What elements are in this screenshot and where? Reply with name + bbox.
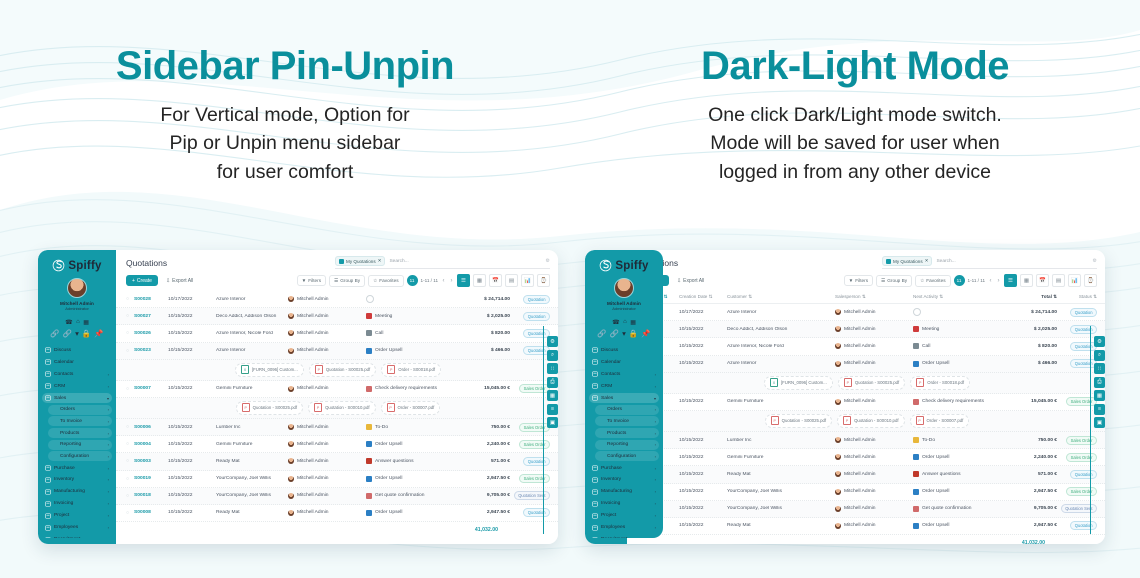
column-header-status[interactable]: Status ⇅ <box>1057 294 1097 300</box>
link-icon[interactable]: 🔗 <box>50 329 59 338</box>
pager-prev-button[interactable]: ‹ <box>988 278 993 284</box>
table-row[interactable]: ○S0000710/15/2022Gemini FurnitureMitchel… <box>116 381 558 398</box>
group-by-button[interactable]: ☰ Group By <box>329 275 365 287</box>
column-header-customer[interactable]: Customer ⇅ <box>727 294 835 300</box>
phone-icon[interactable]: ☎ <box>612 319 619 326</box>
attachment-row: PQuotation - S00025.pdfPQuotation - S000… <box>116 398 558 419</box>
grid-icon[interactable]: ▦ <box>630 319 636 326</box>
table-row[interactable]: ○S0002810/17/2022Azure InteriorMitchell … <box>116 291 558 308</box>
sidebar-item-reporting[interactable]: Reporting› <box>48 440 112 450</box>
xls-file-icon: X <box>241 365 249 374</box>
record-count-badge: 11 <box>954 275 965 286</box>
invoicing-icon <box>592 501 598 507</box>
attachment-pill[interactable]: X[FURN_0096] Custom... <box>235 363 304 377</box>
filter-icon[interactable]: ▾ <box>622 329 626 338</box>
table-row[interactable]: ○S0001810/15/2022YourCompany, Joel Willi… <box>627 501 1105 518</box>
cell-total: $ 2,025.00 <box>1005 327 1057 332</box>
column-header-next-activity[interactable]: Next Activity ⇅ <box>913 294 1005 300</box>
cell-salesperson: Mitchell Admin <box>288 348 366 354</box>
row-checkbox[interactable]: ○ <box>126 493 134 499</box>
sidebar-item-sales[interactable]: Sales▾ <box>42 393 112 403</box>
topbar-right: Quotations My Quotations ✕ Search... ⚙ + <box>627 250 1105 291</box>
activity-view-icon[interactable]: ⌚ <box>537 274 550 287</box>
cell-total: $ 466.00 <box>458 348 510 353</box>
main-area-left: Quotations My Quotations ✕ Search... ⚙ + <box>116 250 558 544</box>
activity-view-icon[interactable]: ⌚ <box>1084 274 1097 287</box>
cell-salesperson: Mitchell Admin <box>288 313 366 319</box>
sidebar-item-products[interactable]: Products› <box>48 428 112 438</box>
avatar <box>835 489 841 495</box>
sidebar-item-sales[interactable]: Sales▾ <box>589 393 659 403</box>
export-all-button[interactable]: ⇩ Export All <box>673 275 708 286</box>
list-rail-icon[interactable]: ≡ <box>547 404 558 415</box>
pager-next-button[interactable]: › <box>449 278 454 284</box>
grid-icon[interactable]: ▦ <box>83 319 89 326</box>
chevron-down-icon: ▾ <box>107 396 109 401</box>
cell-total: $ 466.00 <box>1005 361 1057 366</box>
pager-prev-button[interactable]: ‹ <box>441 278 446 284</box>
filters-button[interactable]: ▼ Filters <box>844 275 873 286</box>
sidebar-item-reporting[interactable]: Reporting› <box>595 440 659 450</box>
todo-icon <box>913 437 919 443</box>
dot-icon <box>51 418 57 424</box>
grid-rail-icon[interactable]: ∷ <box>1094 363 1105 374</box>
column-header-total[interactable]: Total ⇅ <box>1005 294 1057 300</box>
chevron-right-icon: › <box>655 372 656 377</box>
pdf-file-icon: P <box>916 416 924 425</box>
pivot-view-icon[interactable]: ▤ <box>1052 274 1065 287</box>
cell-status: Quotation <box>1057 521 1097 530</box>
search-rail-icon[interactable]: ⌕ <box>547 350 558 361</box>
module-rail-icon[interactable]: ▦ <box>1094 390 1105 401</box>
table-row[interactable]: ○S0002610/15/2022Azure Interior, Nicole … <box>627 338 1105 355</box>
attachment-pill[interactable]: PQuotation - S00010.pdf <box>837 414 904 428</box>
contacts-icon <box>45 371 51 377</box>
cell-customer: Azure Interior, Nicole Ford <box>216 331 288 336</box>
attachment-pill[interactable]: POrder - S00007.pdf <box>910 414 970 428</box>
cell-total: 2,240.00 € <box>458 442 510 447</box>
cell-status: Quotation <box>1057 308 1097 317</box>
cell-salesperson: Mitchell Admin <box>835 309 913 315</box>
sidebar-item-label: Inventory <box>601 477 652 482</box>
sidebar-item-label: CRM <box>54 384 105 389</box>
sidebar-item-label: Invoicing <box>601 501 652 506</box>
list-view-icon[interactable]: ☰ <box>457 274 470 287</box>
pin-icon[interactable]: 📌 <box>94 329 103 338</box>
quick-actions-row-1-right[interactable]: ☎ ⌂ ▦ <box>585 319 663 326</box>
cell-activity: Order Upsell <box>366 510 458 516</box>
chevron-right-icon: › <box>655 501 656 506</box>
sidebar-menu-right[interactable]: DiscussCalendarContacts›CRM›Sales▾Orders… <box>585 345 663 538</box>
favorites-button[interactable]: ☆ Favorites <box>368 275 403 287</box>
pivot-view-icon[interactable]: ▤ <box>505 274 518 287</box>
facet-remove-icon[interactable]: ✕ <box>378 258 382 264</box>
sidebar-item-invoicing[interactable]: Invoicing› <box>42 499 112 509</box>
table-row[interactable]: ○S0002310/15/2022Azure InteriorMitchell … <box>116 343 558 360</box>
dot-icon <box>598 407 604 413</box>
attachment-pill[interactable]: PQuotation - S00025.pdf <box>765 414 832 428</box>
sidebar-item-manufacturing[interactable]: Manufacturing› <box>589 487 659 497</box>
sidebar-item-employees[interactable]: Employees› <box>42 523 112 533</box>
status-badge: Sales Order <box>519 384 550 393</box>
cell-date: 10/15/2022 <box>168 442 216 447</box>
table-row[interactable]: ○S0000810/15/2022Ready MatMitchell Admin… <box>116 505 558 522</box>
upsell-icon <box>913 454 919 460</box>
grid-rail-icon[interactable]: ∷ <box>547 363 558 374</box>
sidebar-item-label: To Invoice <box>60 419 105 424</box>
row-checkbox[interactable]: ○ <box>126 348 134 354</box>
sidebar-item-contacts[interactable]: Contacts› <box>589 369 659 379</box>
table-row[interactable]: ○S0002610/15/2022Azure Interior, Nicole … <box>116 325 558 342</box>
hero-column-right: Dark-Light Mode One click Dark/Light mod… <box>570 0 1140 232</box>
cell-status: Sales Order <box>510 423 550 432</box>
sidebar-item-to-invoice[interactable]: To Invoice› <box>48 416 112 426</box>
cell-date: 10/15/2022 <box>168 493 216 498</box>
favorites-label: Favorites <box>926 278 945 283</box>
search-options-icon[interactable]: ⚙ <box>546 258 550 264</box>
sidebar-panel-right[interactable]: Spiffy Mitchell Admin Administrator ☎ ⌂ … <box>585 250 663 538</box>
avatar <box>288 510 294 516</box>
row-checkbox[interactable]: ○ <box>126 296 134 302</box>
sidebar-item-contacts[interactable]: Contacts› <box>42 369 112 379</box>
upsell-icon <box>366 476 372 482</box>
search-rail-icon[interactable]: ⌕ <box>1094 350 1105 361</box>
avatar <box>614 278 634 298</box>
home-icon[interactable]: ⌂ <box>76 319 80 326</box>
export-label: Export All <box>683 278 704 284</box>
chevron-right-icon: › <box>108 477 109 482</box>
brand-name: Spiffy <box>615 260 648 272</box>
sidebar-item-calendar[interactable]: Calendar <box>42 357 112 367</box>
facet-my-quotations[interactable]: My Quotations ✕ <box>335 256 385 266</box>
cell-date: 10/15/2022 <box>168 348 216 353</box>
link2-icon[interactable]: 🔗 <box>610 329 619 338</box>
link-icon[interactable]: 🔗 <box>597 329 606 338</box>
sidebar-item-configuration[interactable]: Configuration› <box>595 451 659 461</box>
home-icon[interactable]: ⌂ <box>623 319 627 326</box>
cell-number: S00027 <box>134 314 168 319</box>
chevron-right-icon: › <box>655 431 656 436</box>
user-block[interactable]: Mitchell Admin Administrator <box>38 278 116 315</box>
pdf-file-icon: P <box>844 378 852 387</box>
cell-status: Quotation <box>510 329 550 338</box>
graph-view-icon[interactable]: 📊 <box>1068 274 1081 287</box>
sidebar-item-products[interactable]: Products› <box>595 428 659 438</box>
lock-icon[interactable]: 🔒 <box>82 329 91 338</box>
sidebar-item-label: Orders <box>607 407 652 412</box>
facet-remove-icon[interactable]: ✕ <box>925 258 929 264</box>
cell-date: 10/15/2022 <box>679 344 727 349</box>
quick-actions-row-2-right[interactable]: 🔗 🔗 ▾ 🔒 📌 <box>585 329 663 338</box>
table-row[interactable]: ○S0002310/15/2022Azure InteriorMitchell … <box>627 356 1105 373</box>
upsell-icon <box>366 441 372 447</box>
status-badge: Quotation <box>523 295 550 304</box>
cell-status: Quotation Sent <box>510 491 550 500</box>
list-view-icon[interactable]: ☰ <box>1004 274 1017 287</box>
quick-actions-row-2[interactable]: 🔗 🔗 ▾ 🔒 📌 <box>38 329 116 338</box>
cell-status: Sales Order <box>1057 487 1097 496</box>
groupby-label: Group By <box>340 278 360 283</box>
module-rail-icon[interactable]: ▦ <box>547 390 558 401</box>
attachment-pill[interactable]: X[FURN_0096] Custom... <box>764 376 833 390</box>
status-badge: Quotation <box>523 346 550 355</box>
print-rail-icon[interactable]: ⎙ <box>547 377 558 388</box>
sidebar-item-crm[interactable]: CRM› <box>42 381 112 391</box>
rail-divider <box>1090 326 1091 534</box>
status-badge: Sales Order <box>1066 487 1097 496</box>
cell-total: $ 820.00 <box>458 331 510 336</box>
chevron-right-icon: › <box>655 537 656 538</box>
phone-icon[interactable]: ☎ <box>65 319 72 326</box>
sidebar-item-label: Contacts <box>601 372 652 377</box>
sidebar-item-calendar[interactable]: Calendar <box>589 357 659 367</box>
table-row[interactable]: ○S0001910/15/2022YourCompany, Joel Willi… <box>627 484 1105 501</box>
chat-icon <box>45 347 51 353</box>
cell-activity: Answer questions <box>913 471 1005 477</box>
user-name: Mitchell Admin <box>607 301 641 306</box>
status-badge: Quotation <box>1070 308 1097 317</box>
chevron-right-icon: › <box>655 384 656 389</box>
table-row[interactable]: ○S0000610/15/2022Lumber IncMitchell Admi… <box>627 432 1105 449</box>
sidebar-item-crm[interactable]: CRM› <box>589 381 659 391</box>
sidebar-item-orders[interactable]: Orders› <box>595 405 659 415</box>
search-bar[interactable]: My Quotations ✕ Search... ⚙ <box>335 256 550 269</box>
cell-activity: To-Do <box>913 437 1005 443</box>
brand-right[interactable]: Spiffy <box>585 250 663 278</box>
filters-button[interactable]: ▼ Filters <box>297 275 326 286</box>
row-checkbox[interactable]: ○ <box>126 330 134 336</box>
table-row[interactable]: ○S0000710/15/2022Gemini FurnitureMitchel… <box>627 394 1105 411</box>
sidebar-item-orders[interactable]: Orders› <box>48 405 112 415</box>
create-button[interactable]: + Create <box>126 275 158 286</box>
sidebar-item-label: Products <box>60 431 105 436</box>
cell-salesperson: Mitchell Admin <box>835 361 913 367</box>
avatar <box>288 330 294 336</box>
table-row[interactable]: ○S0000410/15/2022Gemini FurnitureMitchel… <box>627 449 1105 466</box>
calendar-view-icon[interactable]: 📅 <box>1036 274 1049 287</box>
cell-customer: Azure Interior <box>216 348 288 353</box>
cell-salesperson: Mitchell Admin <box>835 399 913 405</box>
sidebar-item-label: CRM <box>601 384 652 389</box>
sidebar-item-discuss[interactable]: Discuss <box>42 345 112 355</box>
filter-facet-icon <box>886 259 891 264</box>
hero-column-left: Sidebar Pin-Unpin For Vertical mode, Opt… <box>0 0 570 232</box>
right-rail-right[interactable]: ⚙⌕∷⎙▦≡▣ <box>1094 336 1105 428</box>
sidebar-item-label: Calendar <box>54 360 109 365</box>
column-header-salesperson[interactable]: Salesperson ⇅ <box>835 294 913 300</box>
chevron-right-icon: › <box>655 489 656 494</box>
sidebar-item-recruitment[interactable]: Recruitment› <box>589 535 659 538</box>
chevron-right-icon: › <box>108 419 109 424</box>
cell-date: 10/15/2022 <box>168 476 216 481</box>
sidebar-item-recruitment[interactable]: Recruitment› <box>42 535 112 538</box>
table-row[interactable]: ○S0001810/15/2022YourCompany, Joel Willi… <box>116 488 558 505</box>
attachment-pill[interactable]: PQuotation - S00025.pdf <box>838 376 905 390</box>
cell-status: Sales Order <box>510 384 550 393</box>
column-header-creation-date[interactable]: Creation Date ⇅ <box>679 294 727 300</box>
dot-icon <box>598 430 604 436</box>
settings-gear-icon[interactable]: ⚙ <box>547 336 558 347</box>
groupby-label: Group By <box>887 278 907 283</box>
kanban-view-icon[interactable]: ▦ <box>473 274 486 287</box>
cell-salesperson: Mitchell Admin <box>835 326 913 332</box>
sidebar-item-label: Manufacturing <box>54 489 105 494</box>
sidebar-item-purchase[interactable]: Purchase› <box>589 463 659 473</box>
cell-total: 2,947.50 € <box>1005 523 1057 528</box>
calendar-icon <box>45 359 51 365</box>
chevron-right-icon: › <box>108 501 109 506</box>
sidebar-item-manufacturing[interactable]: Manufacturing› <box>42 487 112 497</box>
sidebar-item-project[interactable]: Project› <box>589 511 659 521</box>
cell-date: 10/15/2022 <box>168 425 216 430</box>
row-checkbox[interactable]: ○ <box>126 424 134 430</box>
cell-status: Quotation <box>510 295 550 304</box>
chevron-right-icon: › <box>108 384 109 389</box>
attachment-row: PQuotation - S00025.pdfPQuotation - S000… <box>627 411 1105 432</box>
image-rail-icon[interactable]: ▣ <box>1094 417 1105 428</box>
table-row[interactable]: ○S0000410/15/2022Gemini FurnitureMitchel… <box>116 436 558 453</box>
sidebar-item-inventory[interactable]: Inventory› <box>42 475 112 485</box>
chevron-right-icon: › <box>108 372 109 377</box>
sidebar-item-configuration[interactable]: Configuration› <box>48 451 112 461</box>
cell-salesperson: Mitchell Admin <box>835 471 913 477</box>
sidebar-item-purchase[interactable]: Purchase› <box>42 463 112 473</box>
table-row[interactable]: ○S0002710/15/2022Deco Addict, Addison Ol… <box>116 308 558 325</box>
avatar <box>288 476 294 482</box>
download-icon: ⇩ <box>166 278 170 284</box>
quotations-table-left: ○S0002810/17/2022Azure InteriorMitchell … <box>116 291 558 544</box>
sidebar-item-project[interactable]: Project› <box>42 511 112 521</box>
table-row[interactable]: ○S0000310/15/2022Ready MatMitchell Admin… <box>116 453 558 470</box>
pager-next-button[interactable]: › <box>996 278 1001 284</box>
filter-icon[interactable]: ▾ <box>75 329 79 338</box>
lock-icon[interactable]: 🔒 <box>629 329 638 338</box>
table-row[interactable]: ○S0001910/15/2022YourCompany, Joel Willi… <box>116 471 558 488</box>
table-row[interactable]: ○S0002710/15/2022Deco Addict, Addison Ol… <box>627 321 1105 338</box>
topbar-left: Quotations My Quotations ✕ Search... ⚙ + <box>116 250 558 291</box>
attachment-pill[interactable]: POrder - S00018.pdf <box>910 376 970 390</box>
check-icon <box>366 386 372 392</box>
purchase-icon <box>45 465 51 471</box>
sidebar-menu-left[interactable]: DiscussCalendarContacts›CRM›Sales▾Orders… <box>38 345 116 538</box>
user-block-right[interactable]: Mitchell Admin Administrator <box>585 278 663 315</box>
employees-icon <box>592 525 598 531</box>
attachment-pill[interactable]: POrder - S00007.pdf <box>381 401 441 415</box>
cell-status: Sales Order <box>1057 436 1097 445</box>
avatar <box>288 313 294 319</box>
rail-divider <box>543 326 544 534</box>
search-input[interactable]: Search... <box>936 259 1088 264</box>
cell-number: S00019 <box>134 476 168 481</box>
right-rail-left[interactable]: ⚙⌕∷⎙▦≡▣ <box>547 336 558 428</box>
cell-date: 10/17/2022 <box>679 310 727 315</box>
sidebar-item-discuss[interactable]: Discuss <box>589 345 659 355</box>
upsell-icon <box>913 523 919 529</box>
print-rail-icon[interactable]: ⎙ <box>1094 377 1105 388</box>
table-row[interactable]: ○S0000610/15/2022Lumber IncMitchell Admi… <box>116 419 558 436</box>
pdf-file-icon: P <box>315 365 323 374</box>
pin-icon[interactable]: 📌 <box>641 329 650 338</box>
calendar-view-icon[interactable]: 📅 <box>489 274 502 287</box>
chevron-right-icon: › <box>108 442 109 447</box>
kanban-view-icon[interactable]: ▦ <box>1020 274 1033 287</box>
table-row[interactable]: ○S0000310/15/2022Ready MatMitchell Admin… <box>627 466 1105 483</box>
graph-view-icon[interactable]: 📊 <box>521 274 534 287</box>
cell-customer: Ready Mat <box>727 523 835 528</box>
sales-icon <box>592 395 598 401</box>
image-rail-icon[interactable]: ▣ <box>547 417 558 428</box>
cell-total: 9,705.00 € <box>458 493 510 498</box>
cell-total: $ 2,025.00 <box>458 314 510 319</box>
link2-icon[interactable]: 🔗 <box>63 329 72 338</box>
cell-date: 10/15/2022 <box>679 472 727 477</box>
search-options-icon[interactable]: ⚙ <box>1093 258 1097 264</box>
user-role: Administrator <box>65 306 89 311</box>
sidebar-item-to-invoice[interactable]: To Invoice› <box>595 416 659 426</box>
attachment-pill[interactable]: POrder - S00018.pdf <box>381 363 441 377</box>
spiffy-logo-icon <box>599 259 612 272</box>
table-row[interactable]: ○S0000810/15/2022Ready MatMitchell Admin… <box>627 518 1105 535</box>
settings-gear-icon[interactable]: ⚙ <box>1094 336 1105 347</box>
inventory-icon <box>45 477 51 483</box>
row-checkbox[interactable]: ○ <box>126 476 134 482</box>
cell-salesperson: Mitchell Admin <box>288 386 366 392</box>
export-all-button[interactable]: ⇩ Export All <box>162 275 197 286</box>
cell-total: 15,045.00 € <box>458 386 510 391</box>
cell-customer: Azure Interior <box>727 310 835 315</box>
brand[interactable]: Spiffy <box>38 250 116 278</box>
cell-total: 571.00 € <box>1005 472 1057 477</box>
cell-salesperson: Mitchell Admin <box>288 330 366 336</box>
sidebar-item-invoicing[interactable]: Invoicing› <box>589 499 659 509</box>
sidebar-item-label: Discuss <box>601 348 656 353</box>
sidebar-panel-left[interactable]: Spiffy Mitchell Admin Administrator ☎ ⌂ … <box>38 250 116 538</box>
row-checkbox[interactable]: ○ <box>126 386 134 392</box>
cell-status: Quotation <box>1057 325 1097 334</box>
row-checkbox[interactable]: ○ <box>126 441 134 447</box>
facet-my-quotations[interactable]: My Quotations ✕ <box>882 256 932 266</box>
search-bar-right[interactable]: My Quotations ✕ Search... ⚙ <box>882 256 1097 269</box>
attachment-pill[interactable]: PQuotation - S00025.pdf <box>236 401 303 415</box>
row-checkbox[interactable]: ○ <box>126 510 134 516</box>
status-badge: Quotation <box>1070 325 1097 334</box>
sidebar-item-inventory[interactable]: Inventory› <box>589 475 659 485</box>
cell-number: S00026 <box>134 331 168 336</box>
table-row[interactable]: ○S0002810/17/2022Azure InteriorMitchell … <box>627 304 1105 321</box>
sidebar-item-label: Employees <box>601 525 652 530</box>
row-checkbox[interactable]: ○ <box>126 458 134 464</box>
dot-icon <box>598 453 604 459</box>
quick-actions-row-1[interactable]: ☎ ⌂ ▦ <box>38 319 116 326</box>
sidebar-item-employees[interactable]: Employees› <box>589 523 659 533</box>
search-input[interactable]: Search... <box>389 259 541 264</box>
invoicing-icon <box>45 501 51 507</box>
list-rail-icon[interactable]: ≡ <box>1094 404 1105 415</box>
favorites-button[interactable]: ☆ Favorites <box>915 275 950 287</box>
hero-title-right: Dark-Light Mode <box>701 45 1009 87</box>
sidebar-item-label: Project <box>601 513 652 518</box>
group-by-button[interactable]: ☰ Group By <box>876 275 912 287</box>
attachment-pill[interactable]: PQuotation - S00010.pdf <box>308 401 375 415</box>
cell-total: 750.00 € <box>1005 438 1057 443</box>
avatar <box>835 326 841 332</box>
row-checkbox[interactable]: ○ <box>126 313 134 319</box>
cell-total: $ 24,714.00 <box>1005 310 1057 315</box>
todo-icon <box>366 424 372 430</box>
attachment-pill[interactable]: PQuotation - S00025.pdf <box>309 363 376 377</box>
upsell-icon <box>366 510 372 516</box>
hero-subtitle-left: For Vertical mode, Option for Pip or Unp… <box>160 101 409 186</box>
